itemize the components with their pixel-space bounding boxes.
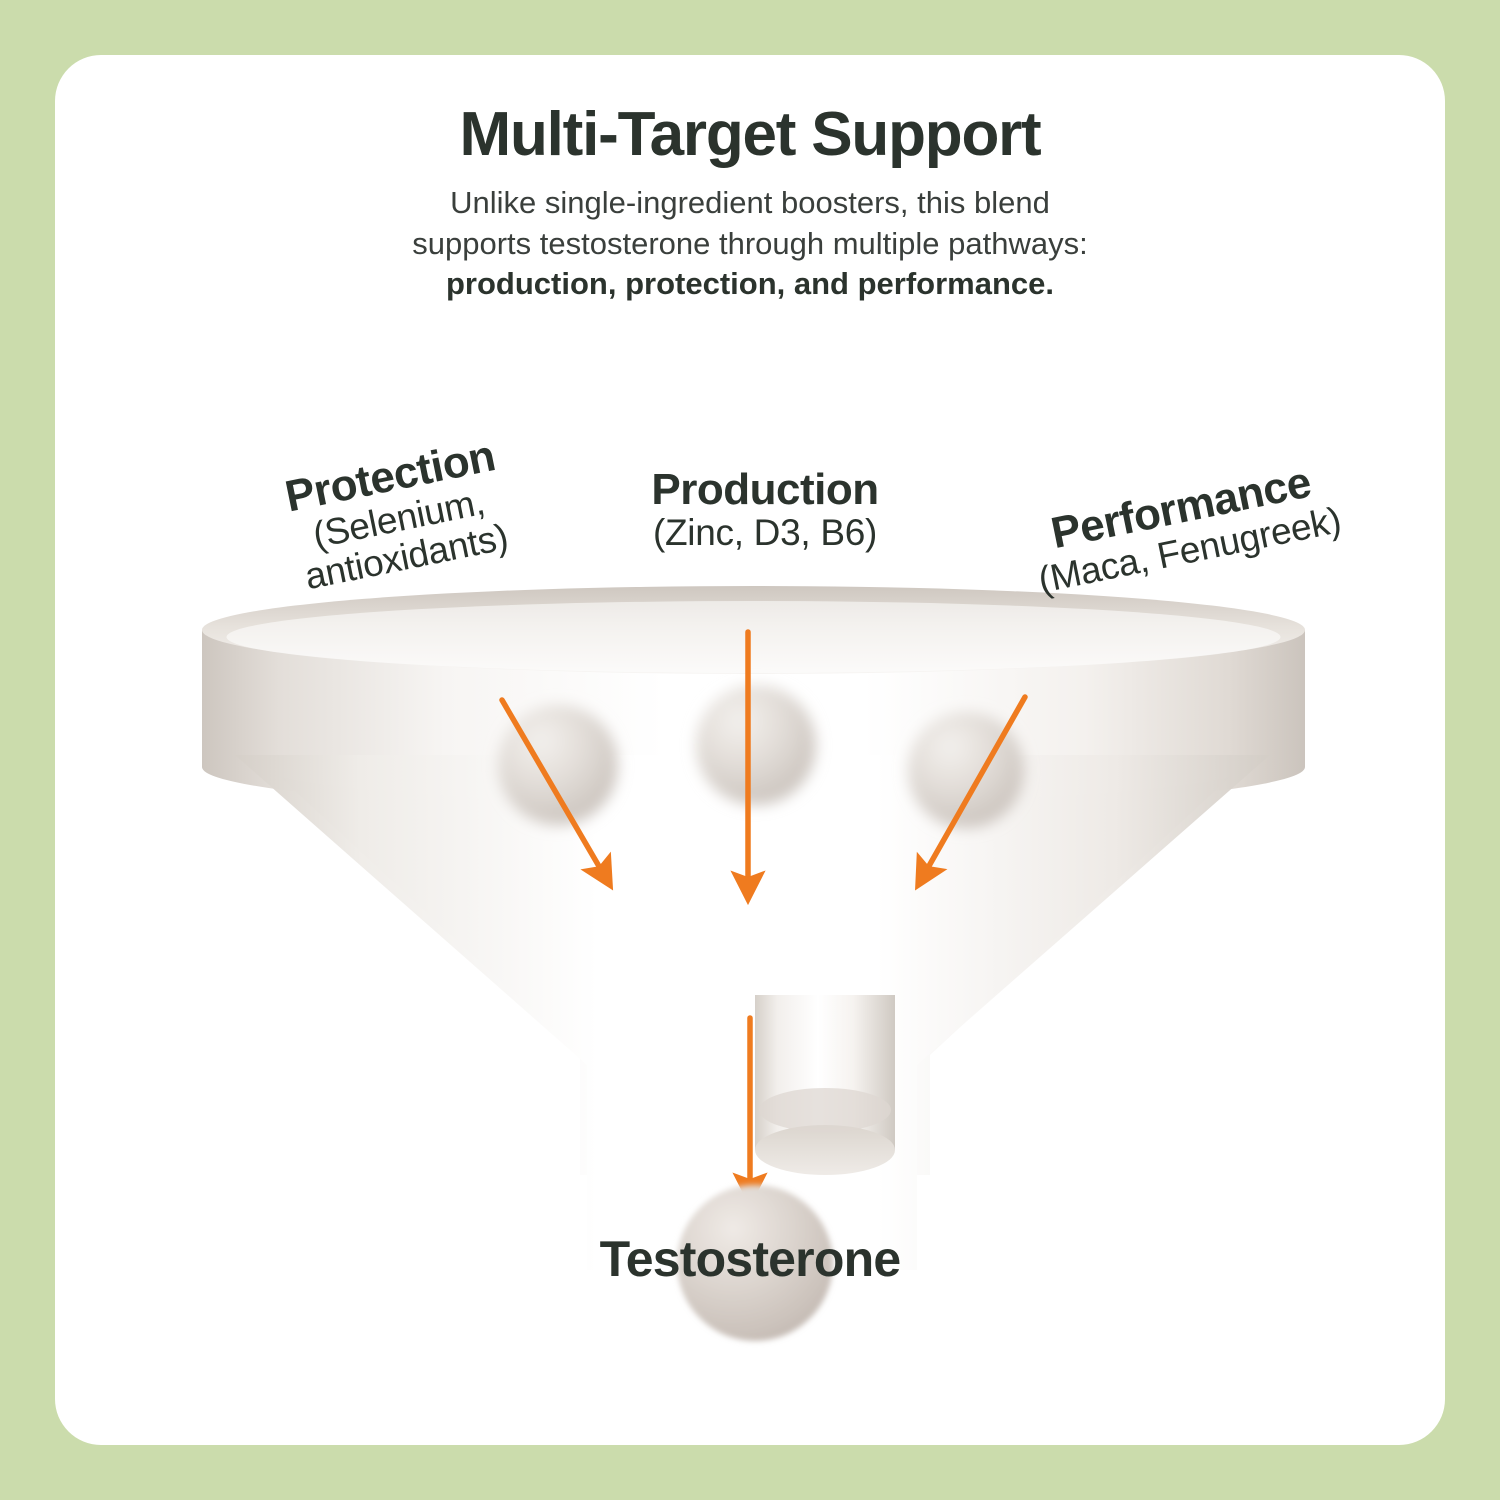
pathway-label-production: Production (Zinc, D3, B6) xyxy=(595,467,935,552)
funnel-rim-inner xyxy=(227,601,1281,673)
bead-production xyxy=(696,685,816,805)
pathway-title-production: Production xyxy=(595,467,935,513)
funnel-stem-outlet xyxy=(755,1125,895,1175)
funnel-stem-inner-lip xyxy=(759,1088,891,1132)
pathway-subtitle-production: (Zinc, D3, B6) xyxy=(595,513,935,552)
page-root: Multi-Target Support Unlike single-ingre… xyxy=(0,0,1500,1500)
testosterone-output-label: Testosterone xyxy=(55,1230,1445,1288)
content-card: Multi-Target Support Unlike single-ingre… xyxy=(55,55,1445,1445)
